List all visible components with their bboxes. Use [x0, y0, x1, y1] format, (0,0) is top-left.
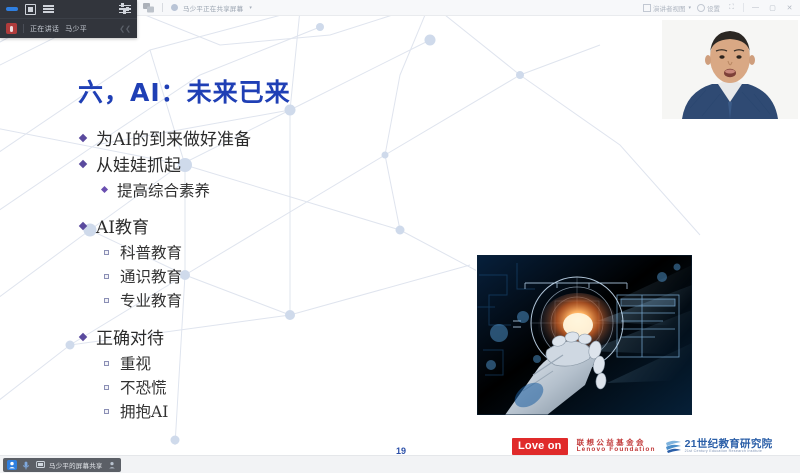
list-item: AI教育	[80, 216, 410, 241]
speaker-view-icon	[643, 4, 651, 12]
list-item: 专业教育	[104, 290, 410, 313]
diamond-bullet-icon	[80, 128, 96, 141]
taskbar: 马少平的屏幕共享	[0, 455, 800, 473]
bullet-list: 为AI的到来做好准备 从娃娃抓起 提高综合素养 AI教育 科普教育 通识教育	[80, 128, 410, 425]
list-item-label: 为AI的到来做好准备	[96, 128, 251, 153]
share-status-dot-icon	[171, 4, 178, 11]
lenovo-logo-en: Lenovo Foundation	[577, 447, 656, 454]
square-bullet-icon	[104, 401, 120, 414]
share-status-label: 马少平正在共享屏幕	[183, 3, 243, 13]
view-mode-label: 演讲者视图	[653, 3, 686, 13]
love-on-logo: Love on	[512, 438, 568, 455]
slide-page-number: 19	[396, 446, 406, 455]
screen-share-taskbar-item[interactable]: 马少平的屏幕共享	[3, 458, 121, 472]
taskbar-label: 马少平的屏幕共享	[49, 460, 103, 470]
fullscreen-button[interactable]: ⛶	[726, 3, 737, 12]
speaking-status-label: 正在讲话	[30, 24, 59, 34]
institute-mark-icon	[665, 440, 682, 454]
person-icon[interactable]	[107, 460, 117, 470]
collapse-icon[interactable]: ❮❮	[119, 25, 131, 33]
list-item-label: 提高综合素养	[117, 180, 210, 203]
microphone-icon[interactable]	[21, 460, 31, 470]
lenovo-foundation-logo: 联想公益基金会 Lenovo Foundation	[577, 439, 656, 454]
list-item: 科普教育	[104, 242, 410, 265]
participants-icon[interactable]	[7, 460, 17, 470]
institute-logo: 21世纪教育研究院 21st Century Education Researc…	[665, 439, 773, 454]
minimize-button[interactable]: —	[750, 3, 761, 12]
list-view-icon[interactable]	[43, 4, 54, 15]
panel-divider	[23, 24, 24, 33]
screen-share-icon[interactable]	[35, 460, 45, 470]
square-bullet-icon	[104, 242, 120, 255]
list-item-label: AI教育	[96, 216, 149, 241]
diamond-bullet-icon	[80, 154, 96, 167]
single-view-icon[interactable]	[25, 4, 36, 15]
diamond-bullet-icon	[80, 327, 96, 340]
gear-icon	[697, 4, 705, 12]
toolbar-divider	[162, 3, 163, 12]
list-item-label: 重视	[120, 353, 151, 376]
maximize-button[interactable]: ▢	[767, 3, 778, 12]
view-pill-icon[interactable]	[6, 7, 18, 11]
list-item-label: 通识教育	[120, 266, 182, 289]
list-item: 为AI的到来做好准备	[80, 128, 410, 153]
list-item-label: 不恐慌	[120, 377, 167, 400]
square-bullet-icon	[104, 377, 120, 390]
diamond-bullet-icon	[102, 180, 117, 192]
square-bullet-icon	[104, 290, 120, 303]
active-speaker-name: 马少平	[65, 24, 87, 34]
list-item-label: 从娃娃抓起	[96, 154, 181, 179]
list-item: 拥抱AI	[104, 401, 410, 424]
square-bullet-icon	[104, 266, 120, 279]
list-item: 正确对待	[80, 327, 410, 352]
presenter-video-thumbnail[interactable]	[662, 20, 798, 119]
settings-label: 设置	[707, 3, 720, 13]
mic-muted-icon[interactable]	[6, 23, 17, 34]
chevron-down-icon: ▾	[688, 5, 691, 11]
slide-image-ai-robot	[477, 255, 692, 415]
list-item-label: 科普教育	[120, 242, 182, 265]
list-item-label: 正确对待	[96, 327, 164, 352]
list-item-label: 拥抱AI	[120, 401, 168, 424]
sponsor-logos: Love on 联想公益基金会 Lenovo Foundation 21世纪教育…	[512, 438, 772, 455]
close-button[interactable]: ✕	[784, 3, 795, 12]
list-item: 从娃娃抓起	[80, 154, 410, 179]
list-item: 提高综合素养	[102, 180, 410, 203]
settings-button[interactable]: 设置	[697, 3, 720, 13]
list-item: 重视	[104, 353, 410, 376]
list-item: 不恐慌	[104, 377, 410, 400]
list-item: 通识教育	[104, 266, 410, 289]
view-mode-button[interactable]: 演讲者视图 ▾	[643, 3, 691, 13]
meeting-window: 六，AI：未来已来 为AI的到来做好准备 从娃娃抓起 提高综合素养 AI教育	[0, 0, 800, 473]
institute-name-en: 21st Century Education Research Institut…	[685, 450, 773, 454]
toolbar-divider	[743, 3, 744, 12]
floating-control-panel: 正在讲话 马少平 ❮❮	[0, 0, 137, 38]
square-bullet-icon	[104, 353, 120, 366]
share-screen-icon	[143, 3, 154, 13]
chevron-down-icon[interactable]: ▾	[249, 5, 252, 11]
slider-settings-icon[interactable]	[119, 4, 131, 15]
diamond-bullet-icon	[80, 216, 96, 229]
list-item-label: 专业教育	[120, 290, 182, 313]
page-title: 六，AI：未来已来	[78, 73, 291, 109]
